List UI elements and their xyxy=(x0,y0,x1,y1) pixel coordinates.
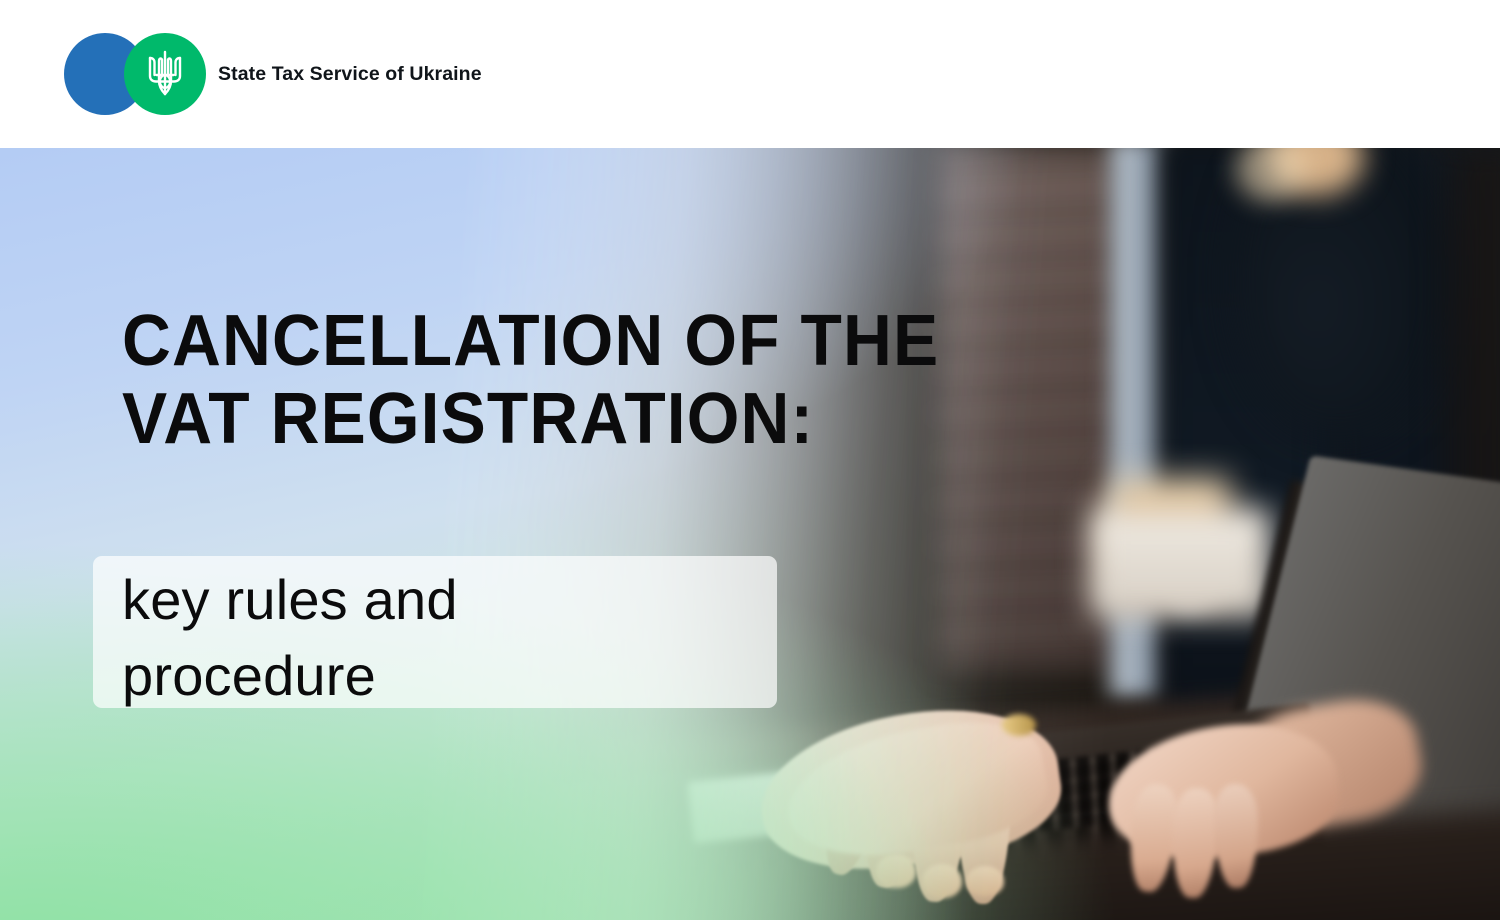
organization-name: State Tax Service of Ukraine xyxy=(218,62,482,87)
gradient-overlay-corner xyxy=(0,148,1500,920)
page-title: CANCELLATION OF THE VAT REGISTRATION: xyxy=(122,302,939,458)
logo-circles xyxy=(64,33,206,115)
header-bar: State Tax Service of Ukraine xyxy=(0,0,1500,148)
green-circle-icon xyxy=(124,33,206,115)
page-subtitle: key rules and procedure xyxy=(122,562,762,714)
logo[interactable]: State Tax Service of Ukraine xyxy=(64,33,482,115)
ukraine-trident-icon xyxy=(143,48,187,100)
vat-cancellation-banner: CANCELLATION OF THE VAT REGISTRATION: ke… xyxy=(0,0,1500,920)
